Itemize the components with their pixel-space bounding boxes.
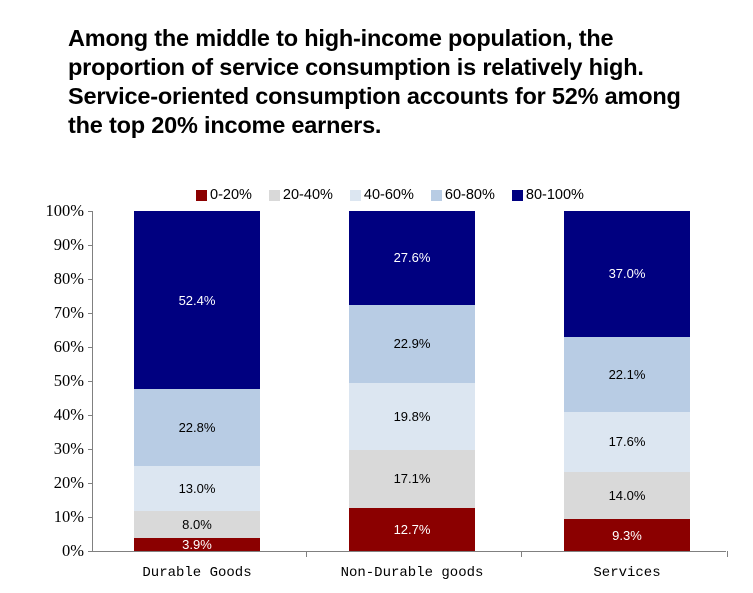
y-tick-label: 40% [54,405,84,425]
bar-segment[interactable]: 14.0% [564,472,690,520]
y-tick-mark [88,245,93,246]
bar-segment[interactable]: 3.9% [134,538,260,551]
bar-segment[interactable]: 27.6% [349,211,475,305]
x-axis-category-label: Durable Goods [97,565,297,581]
bar-segment[interactable]: 12.7% [349,508,475,551]
y-tick-label: 70% [54,303,84,323]
bar-segment[interactable]: 17.6% [564,412,690,472]
bar-segment-label: 13.0% [179,482,216,495]
y-tick-label: 90% [54,235,84,255]
bar-segment-label: 3.9% [182,538,212,551]
bar-services[interactable]: 9.3%14.0%17.6%22.1%37.0%Services [564,211,690,551]
y-tick-label: 100% [46,201,85,221]
legend-swatch-icon [350,190,361,201]
y-tick-label: 60% [54,337,84,357]
y-tick-mark [88,381,93,382]
bar-segment[interactable]: 19.8% [349,383,475,450]
bar-durable-goods[interactable]: 3.9%8.0%13.0%22.8%52.4%Durable Goods [134,211,260,551]
legend-label: 20-40% [283,188,333,202]
legend-label: 0-20% [210,188,252,202]
y-tick-label: 50% [54,371,84,391]
legend-label: 60-80% [445,188,495,202]
y-tick-mark [88,279,93,280]
bar-segment[interactable]: 22.1% [564,337,690,412]
y-tick-label: 30% [54,439,84,459]
legend-swatch-icon [269,190,280,201]
y-tick-label: 80% [54,269,84,289]
bar-segment-label: 19.8% [394,410,431,423]
bar-segment[interactable]: 17.1% [349,450,475,508]
y-tick-label: 10% [54,507,84,527]
y-tick-mark [88,517,93,518]
bar-segment-label: 22.1% [609,368,646,381]
bar-segment-label: 17.1% [394,472,431,485]
bar-segment-label: 17.6% [609,435,646,448]
bar-segment[interactable]: 8.0% [134,511,260,538]
legend-label: 40-60% [364,188,414,202]
y-tick-mark [88,449,93,450]
bar-segment-label: 27.6% [394,251,431,264]
legend-item[interactable]: 20-40% [269,188,333,202]
y-tick-mark [88,347,93,348]
bar-segment-label: 37.0% [609,267,646,280]
legend-label: 80-100% [526,188,584,202]
bar-segment-label: 8.0% [182,518,212,531]
y-tick-mark [88,415,93,416]
legend-item[interactable]: 80-100% [512,188,584,202]
bar-segment[interactable]: 22.8% [134,389,260,466]
legend-item[interactable]: 40-60% [350,188,414,202]
bar-non-durable-goods[interactable]: 12.7%17.1%19.8%22.9%27.6%Non-Durable goo… [349,211,475,551]
legend-swatch-icon [196,190,207,201]
bar-segment-label: 9.3% [612,529,642,542]
legend-item[interactable]: 0-20% [196,188,252,202]
legend-swatch-icon [512,190,523,201]
x-tick-mark [727,551,728,557]
bar-segment-label: 52.4% [179,294,216,307]
plot-area: 0%10%20%30%40%50%60%70%80%90%100% 3.9%8.… [92,211,726,552]
bar-segment[interactable]: 9.3% [564,519,690,551]
chart-legend: 0-20%20-40%40-60%60-80%80-100% [196,188,584,202]
y-tick-mark [88,211,93,212]
x-tick-mark [306,551,307,557]
stacked-bar-chart: 0-20%20-40%40-60%60-80%80-100% 0%10%20%3… [0,0,753,593]
bar-segment-label: 22.8% [179,421,216,434]
bar-segment-label: 12.7% [394,523,431,536]
y-tick-label: 0% [62,541,84,561]
y-tick-mark [88,313,93,314]
legend-swatch-icon [431,190,442,201]
bar-segment-label: 14.0% [609,489,646,502]
y-tick-label: 20% [54,473,84,493]
bar-segment-label: 22.9% [394,337,431,350]
x-axis-category-label: Services [527,565,727,581]
y-tick-mark [88,483,93,484]
bar-segment[interactable]: 52.4% [134,211,260,389]
bar-segment[interactable]: 37.0% [564,211,690,337]
x-tick-mark [521,551,522,557]
bar-segment[interactable]: 13.0% [134,466,260,510]
y-tick-mark [88,551,93,552]
legend-item[interactable]: 60-80% [431,188,495,202]
bar-segment[interactable]: 22.9% [349,305,475,383]
x-axis-category-label: Non-Durable goods [312,565,512,581]
